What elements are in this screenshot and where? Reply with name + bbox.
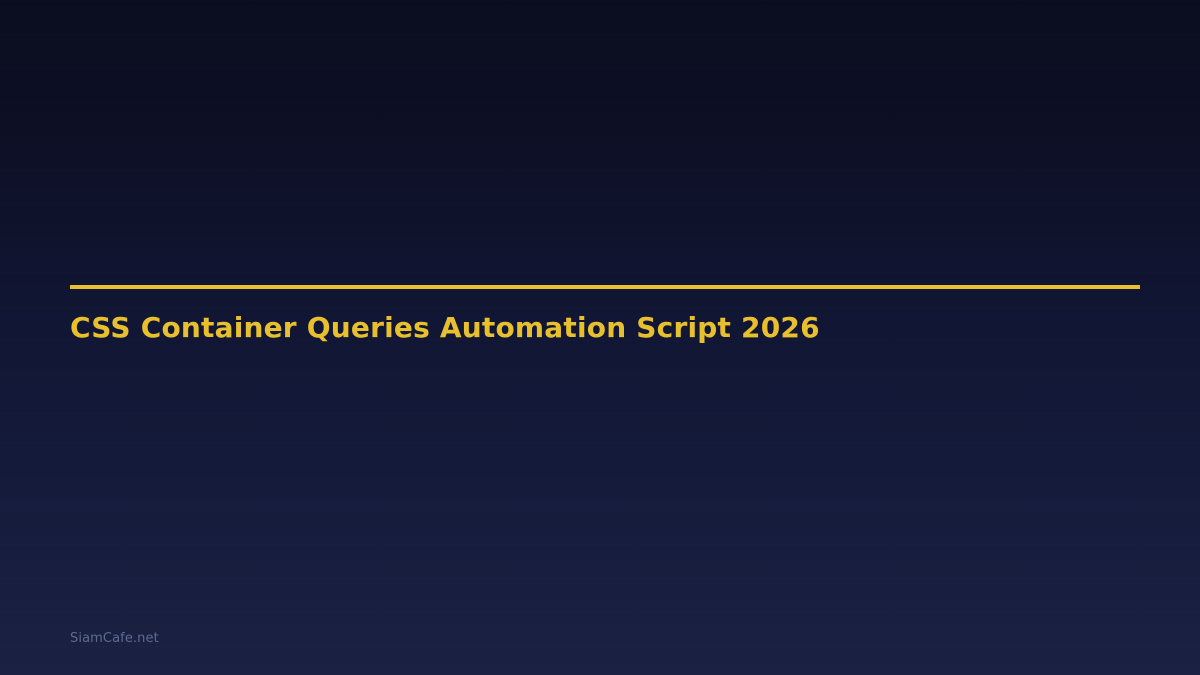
page-title: CSS Container Queries Automation Script … (70, 289, 1140, 345)
footer-site-name: SiamCafe.net (70, 631, 159, 647)
slide-canvas: CSS Container Queries Automation Script … (0, 0, 1200, 675)
title-block: CSS Container Queries Automation Script … (70, 285, 1140, 345)
